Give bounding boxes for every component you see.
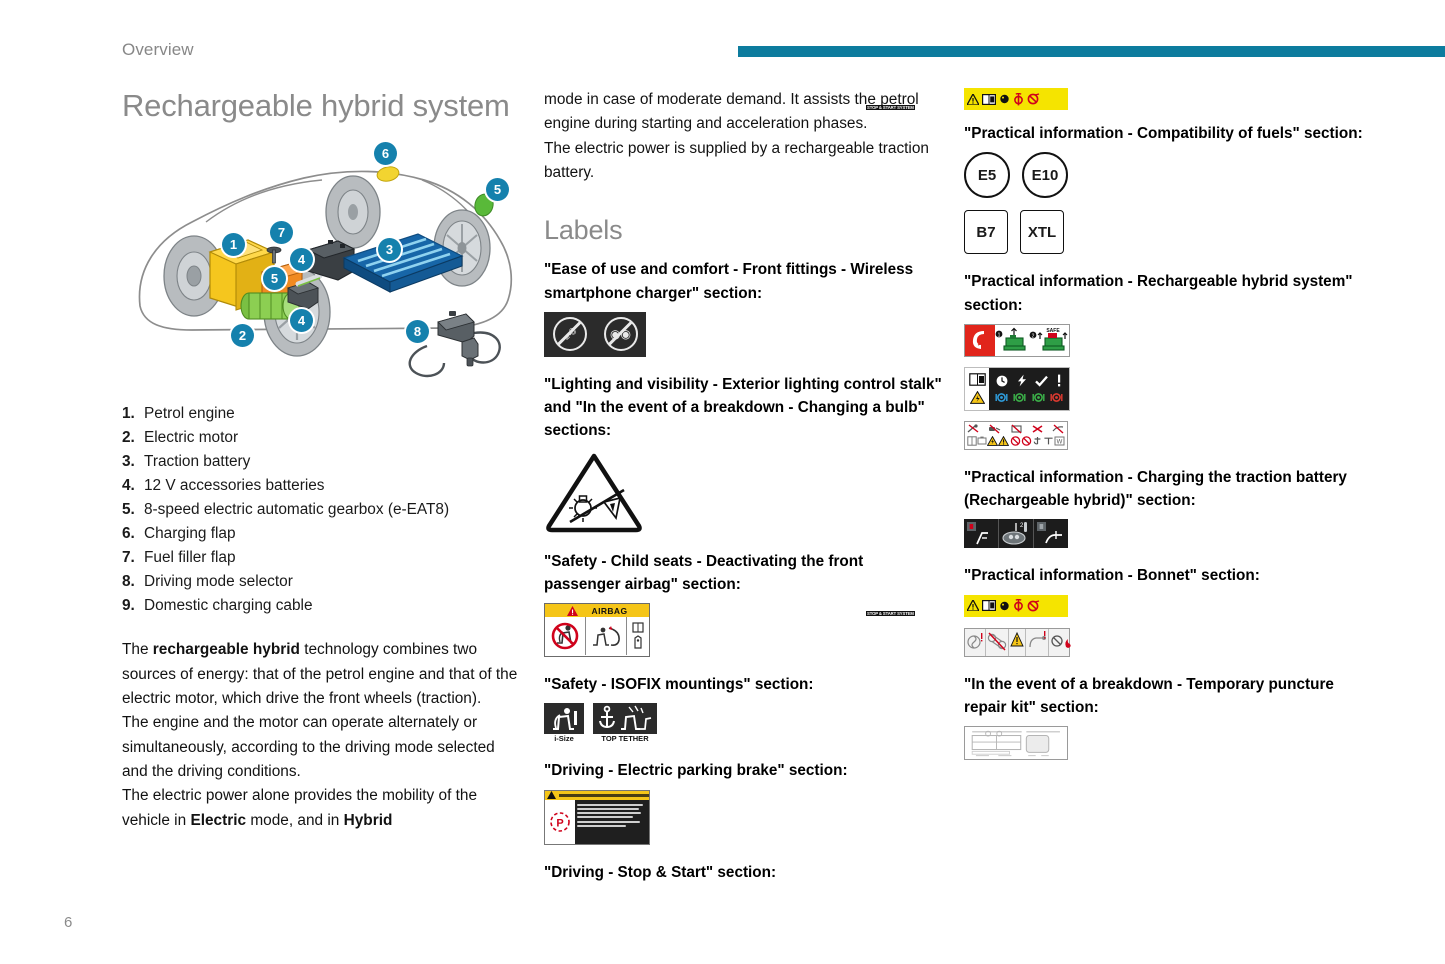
- bonnet-stop-start-text: STOP & START SYSTEM: [866, 611, 915, 616]
- hybrid-safety-mask-label: 1 2 SAFE: [964, 324, 1070, 357]
- warning-triangle-icon: [567, 606, 578, 616]
- lightning-bolt-icon: [1016, 374, 1028, 387]
- airbag-warning-label: AIRBAG: [544, 603, 650, 657]
- no-cross-icon: [1031, 424, 1044, 434]
- top-tether-label: TOP TETHER: [593, 703, 657, 743]
- diagram-legend-list: 1.Petrol engine 2.Electric motor 3.Tract…: [122, 402, 522, 618]
- legend-number: 4.: [122, 474, 144, 498]
- label-heading-rechargeable-hybrid: "Practical information - Rechargeable hy…: [964, 270, 1364, 317]
- legend-label: Electric motor: [144, 426, 238, 450]
- led-blue-icon: [995, 392, 1008, 403]
- warning-triangle-icon: [547, 791, 556, 799]
- no-tow-icon: [988, 424, 1001, 434]
- label-heading-charging-traction-battery: "Practical information - Charging the tr…: [964, 466, 1364, 513]
- airbag-deployment-icon: [586, 617, 627, 655]
- airbag-label-bar: AIRBAG: [545, 604, 649, 617]
- puncture-kit-diagram: [967, 729, 1067, 757]
- no-keys-icon: 🗝: [553, 317, 587, 351]
- parking-brake-header-text: [559, 794, 649, 797]
- para3-bold-hybrid: Hybrid: [344, 812, 393, 829]
- fuel-mark-e5: E5: [964, 152, 1010, 198]
- fan-warning-icon: [1013, 599, 1024, 612]
- fan-hazard-icon: [965, 629, 986, 656]
- document-page: Overview Rechargeable hybrid system: [0, 0, 1445, 964]
- traction-battery-paragraph: The electric power is supplied by a rech…: [544, 137, 942, 186]
- no-hand-warning-icon: [1027, 600, 1040, 612]
- i-size-label: i-Size: [544, 703, 584, 743]
- legend-number: 7.: [122, 546, 144, 570]
- page-title: Rechargeable hybrid system: [122, 88, 522, 124]
- top-tether-badge-text: TOP TETHER: [593, 734, 657, 743]
- label-heading-fuel-compatibility: "Practical information - Compatibility o…: [964, 122, 1364, 145]
- electrical-hazard-icon: [987, 436, 998, 446]
- charging-status-panel: [989, 368, 1069, 410]
- electric-parking-brake-label: P: [544, 790, 650, 845]
- bonnet-stop-start-label: STOP & START SYSTEM: [964, 595, 1068, 617]
- airbag-label-cells: [545, 617, 649, 655]
- list-item: 6.Charging flap: [122, 522, 522, 546]
- tow-hook-icon: [1032, 436, 1043, 446]
- parking-brake-instruction-text: [575, 800, 649, 844]
- no-rear-facing-child-seat-icon: [545, 617, 586, 655]
- diagram-callout-4-top: 4: [290, 248, 313, 271]
- i-size-badge-text: i-Size: [544, 734, 584, 743]
- legend-label: Traction battery: [144, 450, 250, 474]
- parking-brake-label-header: [545, 791, 649, 800]
- charging-step-1-icon: [964, 519, 999, 548]
- svg-text:1: 1: [998, 333, 1001, 339]
- fuel-marks-square-row: B7 XTL: [964, 210, 1364, 254]
- fuel-mark-xtl: XTL: [1020, 210, 1064, 254]
- charging-status-leds: [992, 392, 1066, 403]
- legend-number: 1.: [122, 402, 144, 426]
- hv-precautions-row-1: [967, 424, 1065, 434]
- list-item: 5.8-speed electric automatic gearbox (e-…: [122, 498, 522, 522]
- para1-bold: rechargeable hybrid: [153, 641, 300, 658]
- uv-bulb-warning-triangle-label: [544, 450, 644, 534]
- diagram-callout-7: 6: [374, 142, 397, 165]
- legend-number: 6.: [122, 522, 144, 546]
- battery-icon: [977, 436, 987, 446]
- svg-text:W: W: [1057, 439, 1063, 445]
- legend-label: Charging flap: [144, 522, 236, 546]
- vehicle-illustration: [122, 130, 522, 388]
- manual-book-icon: [982, 94, 996, 105]
- label-heading-parking-brake: "Driving - Electric parking brake" secti…: [544, 759, 942, 782]
- label-heading-bonnet: "Practical information - Bonnet" section…: [964, 564, 1364, 587]
- middle-column: mode in case of moderate demand. It assi…: [544, 88, 942, 891]
- legend-label: 8-speed electric automatic gearbox (e-EA…: [144, 498, 449, 522]
- charging-status-icons: [992, 374, 1066, 387]
- warning-triangle-icon: [967, 94, 979, 105]
- diagram-callout-9: 8: [406, 320, 429, 343]
- intro-paragraph-3: The electric power alone provides the mo…: [122, 784, 522, 833]
- legend-number: 9.: [122, 594, 144, 618]
- svg-text:2: 2: [1020, 523, 1024, 529]
- manual-book-icon: [969, 373, 986, 386]
- list-item: 3.Traction battery: [122, 450, 522, 474]
- engine-warning-icon: [999, 93, 1010, 105]
- legend-number: 3.: [122, 450, 144, 474]
- no-keys-no-coins-label: 🗝 ◉◉: [544, 312, 646, 357]
- legend-number: 8.: [122, 570, 144, 594]
- isofix-label-row: i-Size TOP TETHER: [544, 703, 942, 743]
- hybrid-vehicle-diagram: 6 5 1 7 4 5 3 4 2 8: [122, 130, 522, 388]
- no-jack-icon: [1010, 424, 1023, 434]
- legend-label: Petrol engine: [144, 402, 235, 426]
- warning-triangle-icon: [544, 450, 644, 534]
- list-item: 8.Driving mode selector: [122, 570, 522, 594]
- fuel-mark-b7: B7: [964, 210, 1008, 254]
- charging-step-3-icon: [1034, 519, 1068, 548]
- warning-hazard-icon: [998, 436, 1009, 446]
- breadcrumb: Overview: [122, 40, 194, 60]
- label-heading-stop-start: "Driving - Stop & Start" section:: [544, 861, 942, 884]
- hybrid-step-1-icon: 1: [995, 325, 1029, 356]
- label-heading-wireless-charger: "Ease of use and comfort - Front fitting…: [544, 258, 942, 305]
- no-smoking-icon: [1010, 436, 1021, 446]
- led-green-2-icon: [1032, 392, 1045, 403]
- charging-step-2-icon: 2: [999, 519, 1034, 548]
- electrical-hazard-icon: [970, 391, 985, 404]
- fan-warning-icon: [1013, 93, 1024, 106]
- protective-mask-icon: [965, 325, 995, 356]
- fuel-mark-e10: E10: [1022, 152, 1068, 198]
- airbag-label-text: AIRBAG: [592, 606, 628, 616]
- no-smoking-flame-icon: [1049, 629, 1075, 656]
- label-heading-puncture-repair-kit: "In the event of a breakdown - Temporary…: [964, 673, 1364, 720]
- diagram-callout-6: 5: [486, 178, 509, 201]
- diagram-callout-1: 1: [222, 233, 245, 256]
- list-item: 9.Domestic charging cable: [122, 594, 522, 618]
- diagram-callout-8: 7: [270, 221, 293, 244]
- para3-bold-electric: Electric: [190, 812, 246, 829]
- charging-status-indicator-label: [964, 367, 1070, 411]
- engine-warning-icon: [999, 600, 1010, 612]
- svg-text:P: P: [556, 817, 563, 829]
- led-red-icon: [1050, 392, 1063, 403]
- list-item: 2.Electric motor: [122, 426, 522, 450]
- stop-start-system-text: STOP & START SYSTEM: [866, 105, 915, 110]
- legend-label: Fuel filler flap: [144, 546, 236, 570]
- warning-triangle-icon: [967, 600, 979, 611]
- diagram-callout-2: 2: [231, 324, 254, 347]
- list-item: 4.12 V accessories batteries: [122, 474, 522, 498]
- no-hand-warning-icon: [1027, 93, 1040, 105]
- header-accent-rule: [738, 46, 1445, 57]
- legend-label: 12 V accessories batteries: [144, 474, 325, 498]
- legend-number: 2.: [122, 426, 144, 450]
- hv-precautions-label: W: [964, 421, 1068, 450]
- no-flame-icon: [1021, 436, 1032, 446]
- lifting-point-icon: [1043, 436, 1054, 446]
- para1-part-a: The: [122, 641, 153, 658]
- legend-label: Domestic charging cable: [144, 594, 313, 618]
- parking-brake-label-body: P: [545, 800, 649, 844]
- diagram-callout-3: 3: [378, 238, 401, 261]
- no-touch-belt-icon: [986, 629, 1009, 656]
- fuel-marks-round-row: E5 E10: [964, 152, 1364, 198]
- temporary-puncture-repair-kit-label: [964, 726, 1068, 760]
- charging-procedure-label: 2: [964, 519, 1068, 548]
- no-welding-icon: [967, 424, 980, 434]
- clock-icon: [996, 375, 1008, 387]
- legend-label: Driving mode selector: [144, 570, 293, 594]
- bonnet-precautions-label: [964, 628, 1070, 657]
- no-hand-hot-icon: [1026, 629, 1049, 656]
- right-column: STOP & START SYSTEM "Practical informati…: [964, 88, 1364, 760]
- led-green-icon: [1013, 392, 1026, 403]
- no-coins-icon: ◉◉: [604, 317, 638, 351]
- intro-paragraph-2: The engine and the motor can operate alt…: [122, 711, 522, 784]
- manual-icon: [967, 436, 977, 446]
- hv-precautions-row-2: W: [967, 436, 1065, 446]
- check-icon: [1035, 375, 1048, 387]
- intro-paragraph-1: The rechargeable hybrid technology combi…: [122, 638, 522, 711]
- parking-brake-p-symbol: P: [545, 800, 575, 844]
- charging-label-left-panel: [965, 368, 989, 410]
- manual-book-icon: [982, 600, 996, 611]
- para3-part-b: mode, and in: [246, 812, 344, 829]
- label-heading-exterior-lighting: "Lighting and visibility - Exterior ligh…: [544, 373, 942, 443]
- water-warning-icon: W: [1054, 436, 1065, 446]
- hot-surface-icon: [1009, 629, 1026, 656]
- list-item: 1.Petrol engine: [122, 402, 522, 426]
- diagram-callout-5: 5: [263, 267, 286, 290]
- hybrid-step-2-safe-icon: 2 SAFE: [1029, 325, 1069, 356]
- manual-reference-icon: [627, 617, 649, 655]
- svg-text:2: 2: [1032, 334, 1035, 340]
- legend-number: 5.: [122, 498, 144, 522]
- label-heading-isofix: "Safety - ISOFIX mountings" section:: [544, 673, 942, 696]
- label-heading-airbag-deactivation: "Safety - Child seats - Deactivating the…: [544, 550, 942, 597]
- left-column: Rechargeable hybrid system: [122, 88, 522, 833]
- list-item: 7.Fuel filler flap: [122, 546, 522, 570]
- exclamation-icon: [1056, 374, 1062, 387]
- diagram-callout-4-bottom: 4: [290, 309, 313, 332]
- page-number: 6: [64, 914, 72, 931]
- labels-heading: Labels: [544, 215, 942, 246]
- stop-start-system-label: STOP & START SYSTEM: [964, 88, 1068, 110]
- no-pressure-wash-icon: [1052, 424, 1065, 434]
- continued-paragraph: mode in case of moderate demand. It assi…: [544, 88, 942, 137]
